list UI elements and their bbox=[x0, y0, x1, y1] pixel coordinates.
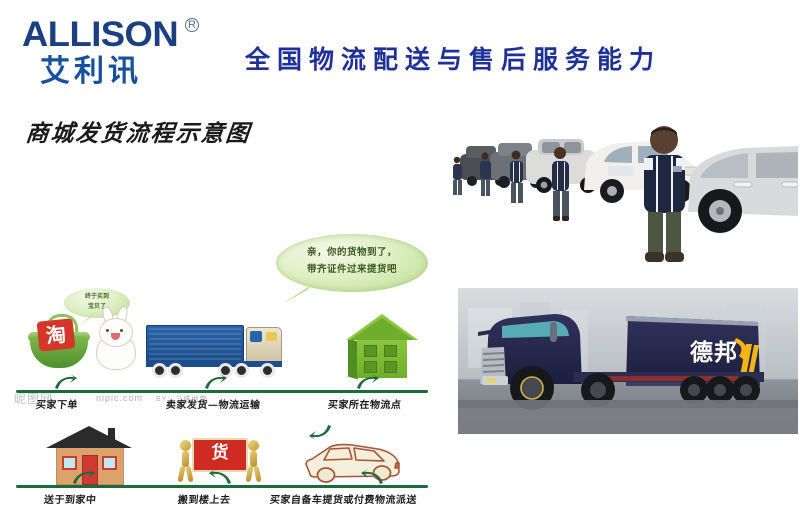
flow-arrow-icon bbox=[204, 374, 228, 390]
warehouse-window bbox=[364, 361, 377, 373]
flow-arrow-icon bbox=[72, 469, 96, 485]
allison-logo: ALLISON R 艾利讯 bbox=[22, 16, 212, 88]
slide-root: ALLISON R 艾利讯 全国物流配送与售后服务能力 商城发货流程示意图 亲，… bbox=[0, 0, 800, 450]
flow-step-label-3: 买家所在物流点 bbox=[327, 396, 402, 411]
flow-diagram-title: 商城发货流程示意图 bbox=[24, 114, 253, 148]
taobao-logo-icon: 淘 bbox=[37, 318, 76, 352]
watermark-right: BY：三维地带 bbox=[156, 394, 207, 404]
warehouse-window bbox=[384, 345, 397, 357]
house-window bbox=[62, 456, 77, 470]
house-roof bbox=[46, 426, 132, 448]
speech-bubble-line-2: 带齐证件过来提货吧 bbox=[285, 261, 419, 278]
watermark-center: nipic.com bbox=[96, 393, 143, 403]
flow-arrow-icon bbox=[208, 469, 232, 485]
flow-step-label-6: 买家自备车提货或付费物流派送 bbox=[269, 491, 417, 506]
flow-arrow-icon bbox=[360, 469, 384, 485]
warehouse-window bbox=[364, 345, 377, 357]
rabbit-eye-right bbox=[120, 329, 123, 332]
warehouse-roof-inner bbox=[350, 318, 414, 340]
deppon-logistics-truck-photo: 德邦 bbox=[458, 288, 798, 434]
flow-rail-row-2 bbox=[16, 485, 428, 488]
flow-step-label-4: 送于到家中 bbox=[43, 491, 97, 506]
buyer-rabbit-icon bbox=[90, 314, 142, 370]
small-bubble-line-1: 终于买到 bbox=[68, 292, 126, 302]
flow-arrow-icon bbox=[54, 374, 78, 390]
service-vehicle-fleet-photo bbox=[452, 112, 798, 264]
logo-chinese-text: 艾利讯 bbox=[40, 55, 212, 89]
page-title: 全国物流配送与售后服务能力 bbox=[245, 40, 775, 76]
rabbit-eye-left bbox=[106, 329, 109, 332]
registered-trademark-icon: R bbox=[185, 18, 199, 32]
svg-text:德邦: 德邦 bbox=[690, 339, 738, 366]
truck-window bbox=[250, 331, 262, 342]
house-window bbox=[102, 456, 117, 470]
warehouse-window bbox=[384, 361, 397, 373]
speech-bubble-line-1: 亲，你的货物到了， bbox=[285, 244, 419, 261]
truck-wheel bbox=[168, 363, 183, 378]
cargo-box-icon: 货 bbox=[192, 438, 248, 472]
truck-wheel bbox=[234, 363, 249, 378]
shipping-flow-diagram: 商城发货流程示意图 亲，你的货物到了， 带齐证件过来提货吧 终于买到 宝贝了 淘 bbox=[8, 108, 438, 413]
semi-truck-icon bbox=[146, 323, 292, 381]
watermark-left: 昵图网 bbox=[14, 390, 53, 407]
flow-arrow-icon bbox=[308, 424, 332, 440]
truck-headlight bbox=[266, 332, 277, 341]
sketch-car-icon bbox=[300, 438, 404, 486]
flow-rail-row-1 bbox=[16, 390, 428, 393]
flow-step-label-5: 搬到楼上去 bbox=[177, 491, 231, 506]
flow-arrow-icon bbox=[356, 374, 380, 390]
warehouse-house-icon bbox=[346, 314, 418, 380]
speech-bubble-tail bbox=[282, 282, 316, 304]
cargo-box-label: 货 bbox=[194, 440, 246, 467]
truck-trailer bbox=[146, 325, 244, 363]
delivery-notice-speech-bubble: 亲，你的货物到了， 带齐证件过来提货吧 bbox=[276, 234, 428, 292]
slide-header: ALLISON R 艾利讯 全国物流配送与售后服务能力 bbox=[0, 0, 800, 100]
truck-wheel bbox=[260, 363, 275, 378]
shopping-basket-icon: 淘 bbox=[30, 320, 88, 368]
truck-wheel bbox=[152, 363, 167, 378]
small-bubble-line-2: 宝贝了 bbox=[68, 302, 126, 312]
